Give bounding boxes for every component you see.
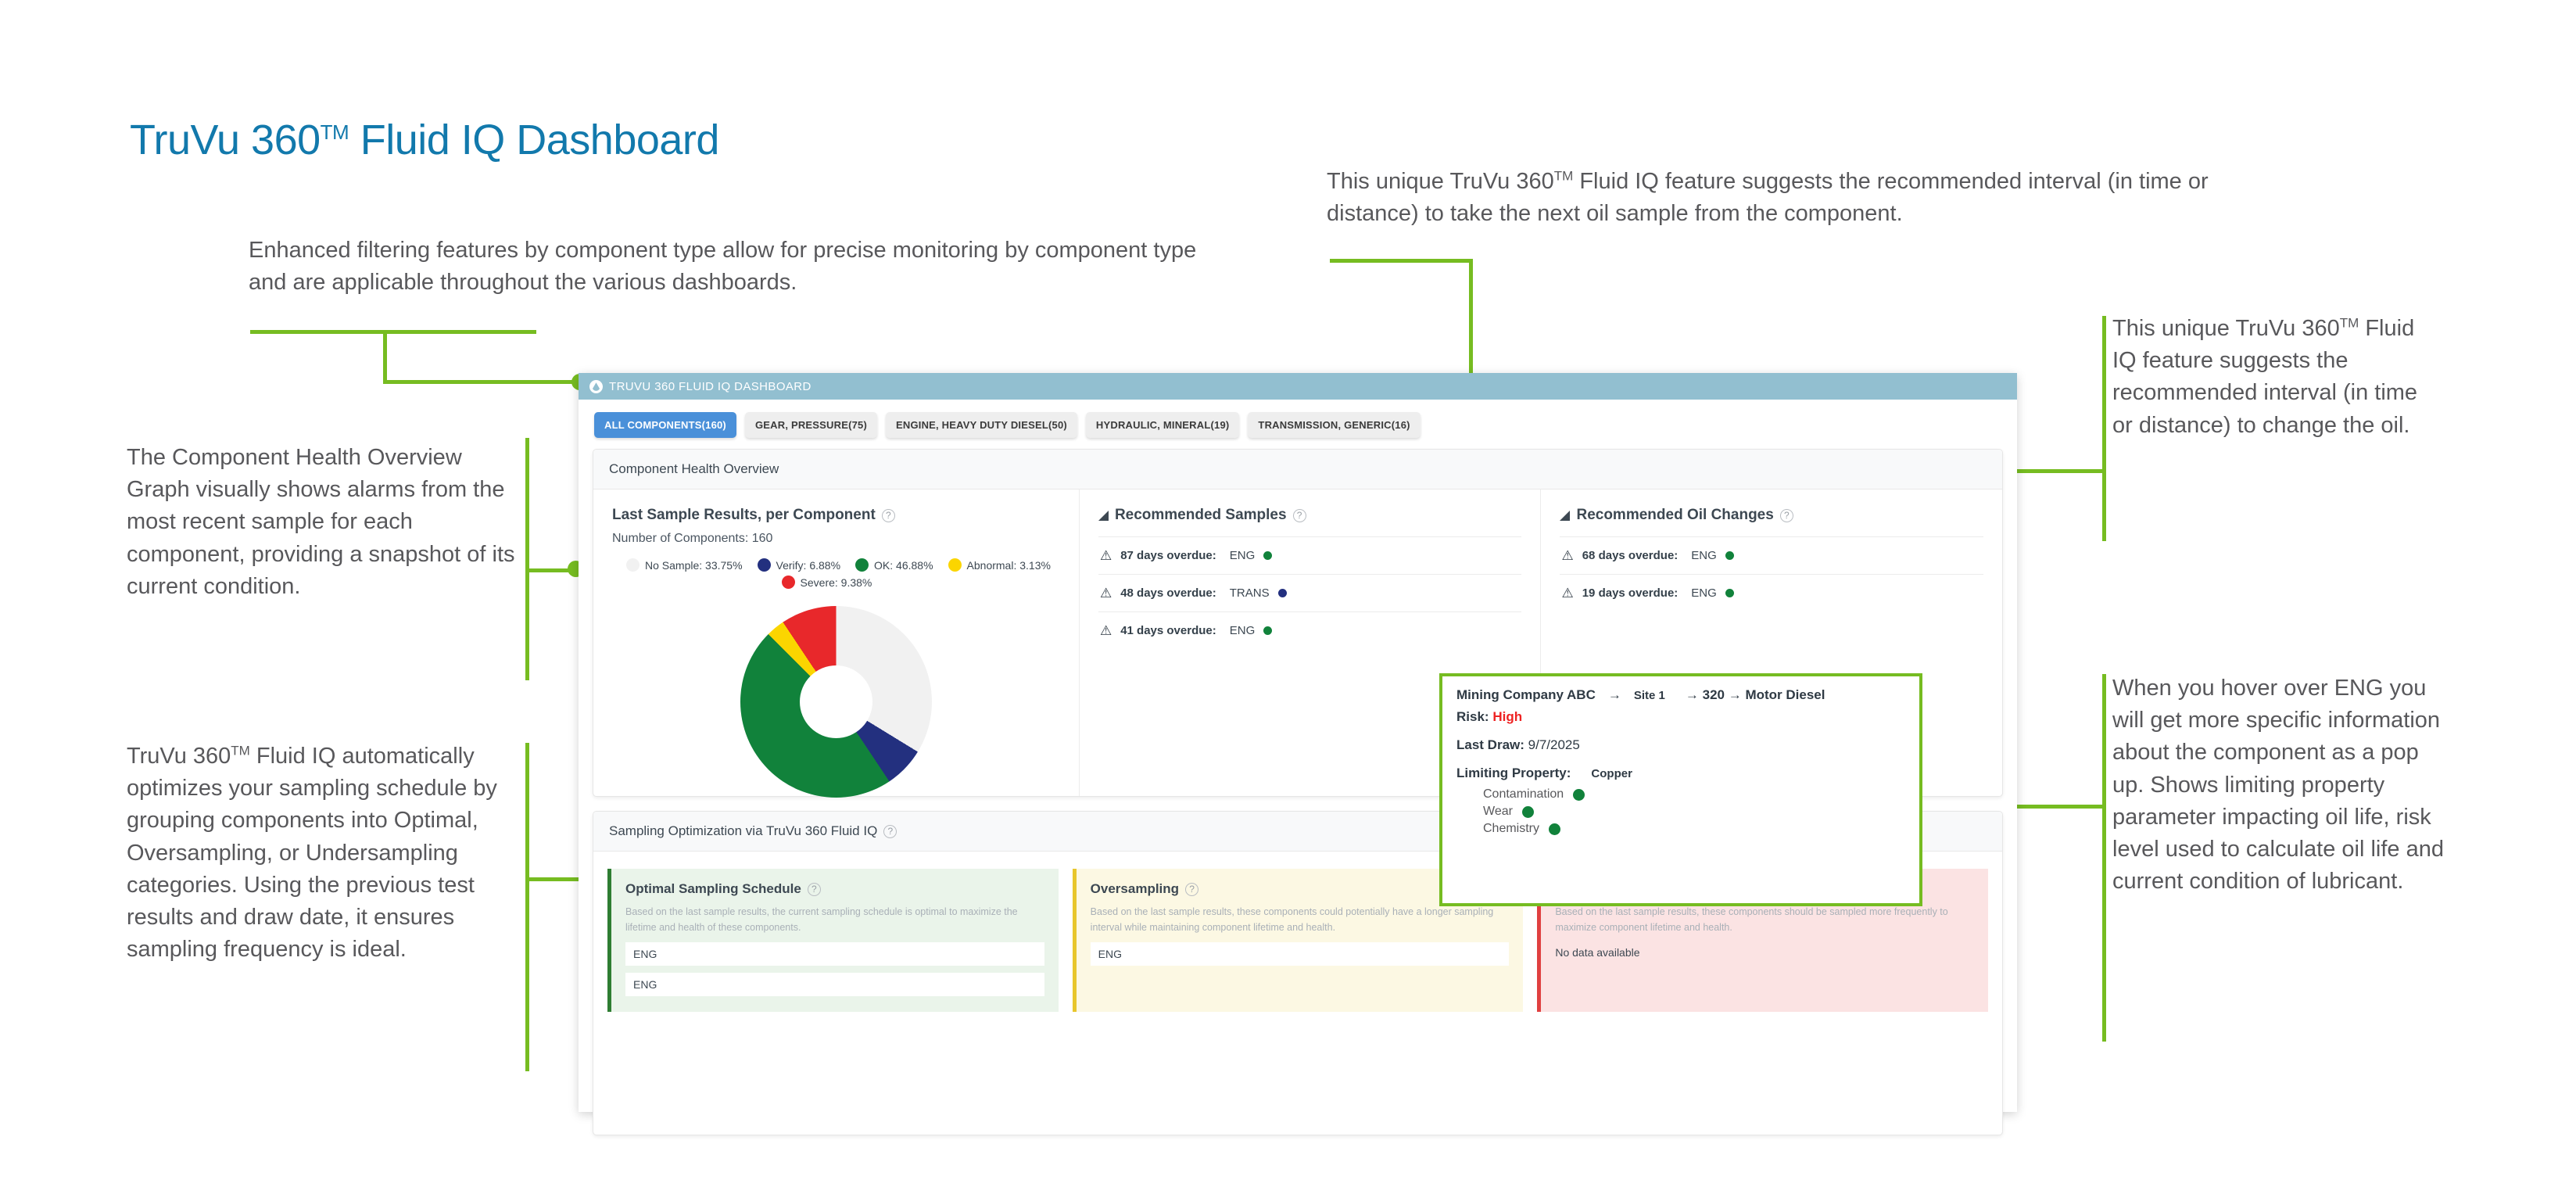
overdue-days: 68 days overdue: <box>1582 549 1679 562</box>
arrow-right-icon: → <box>1608 687 1621 703</box>
annotation-oil-changes: This unique TruVu 360TM Fluid IQ feature… <box>2112 313 2441 442</box>
legend-swatch-verify <box>758 558 771 572</box>
question-circle-icon[interactable]: ? <box>808 883 821 896</box>
component-code[interactable]: ENG <box>1691 549 1717 562</box>
annotation-text: Fluid IQ automatically optimizes your sa… <box>127 744 497 962</box>
tooltip-limiting-label: Limiting Property: <box>1456 766 1571 781</box>
annotation-text: This unique TruVu 360 <box>2112 316 2340 341</box>
status-badge <box>1278 589 1287 597</box>
droplet-logo-icon <box>589 380 603 393</box>
tooltip-property-list: Contamination Wear Chemistry <box>1456 787 1905 836</box>
annotation-filtering: Enhanced filtering features by component… <box>249 235 1226 299</box>
annotation-text: TruVu 360 <box>127 744 231 769</box>
legend-swatch-no-sample <box>626 558 640 572</box>
component-health-donut-chart[interactable] <box>740 606 932 798</box>
list-item[interactable]: ⚠ 19 days overdue: ENG <box>1560 574 1983 611</box>
status-badge <box>1573 789 1585 801</box>
status-badge <box>1549 823 1560 835</box>
tooltip-breadcrumb: Mining Company ABC → Site 1 → 320 → Moto… <box>1456 687 1905 703</box>
question-circle-icon[interactable]: ? <box>1293 509 1306 522</box>
warning-triangle-icon: ⚠ <box>1100 624 1112 637</box>
list-item[interactable]: ENG <box>1091 942 1510 966</box>
overdue-days: 19 days overdue: <box>1582 586 1679 600</box>
card-header-text: Sampling Optimization via TruVu 360 Flui… <box>609 823 877 839</box>
list-item[interactable]: ⚠ 68 days overdue: ENG <box>1560 536 1983 574</box>
tooltip-unit-component: → 320 → Motor Diesel <box>1686 687 1825 703</box>
component-type-filter-tabs: ALL COMPONENTS(160) GEAR, PRESSURE(75) E… <box>579 400 2017 449</box>
recommended-oil-changes-list: ⚠ 68 days overdue: ENG ⚠ 19 days overdue… <box>1560 536 1983 611</box>
optimal-sampling-title: Optimal Sampling Schedule ? <box>625 881 1044 897</box>
page-title: TruVu 360TM Fluid IQ Dashboard <box>130 116 719 164</box>
list-item: Contamination <box>1483 787 1905 801</box>
legend-text-severe: Severe: 9.38% <box>801 576 872 589</box>
donut-chart-legend: No Sample No Sample: 33.75% Verify: 6.88… <box>612 558 1060 589</box>
status-badge <box>1522 806 1534 818</box>
tab-transmission-generic[interactable]: TRANSMISSION, GENERIC(16) <box>1248 412 1420 438</box>
panel-title-text: Recommended Oil Changes <box>1576 507 1773 524</box>
legend-text-verify: Verify: 6.88% <box>776 559 841 572</box>
dashboard-title: TRUVU 360 FLUID IQ DASHBOARD <box>609 380 811 393</box>
leader-line-health-vert <box>525 438 529 680</box>
question-circle-icon[interactable]: ? <box>883 825 897 838</box>
tooltip-company: Mining Company ABC <box>1456 687 1596 703</box>
overdue-days: 48 days overdue: <box>1120 586 1216 600</box>
last-sample-results-panel: Last Sample Results, per Component ? Num… <box>593 490 1079 796</box>
tab-gear-pressure[interactable]: GEAR, PRESSURE(75) <box>745 412 877 438</box>
oversampling-description: Based on the last sample results, these … <box>1091 904 1510 935</box>
tooltip-last-draw-value: 9/7/2025 <box>1528 737 1580 752</box>
question-circle-icon[interactable]: ? <box>1780 509 1793 522</box>
trademark-symbol: TM <box>2340 315 2359 330</box>
status-badge <box>1263 551 1272 560</box>
legend-text-abnormal: Abnormal: 3.13% <box>967 559 1051 572</box>
tooltip-limiting-property: Limiting Property: Copper <box>1456 766 1905 781</box>
trademark-symbol: TM <box>321 120 349 144</box>
overdue-days: 87 days overdue: <box>1120 549 1216 562</box>
recommended-oil-changes-title: Recommended Oil Changes ? <box>1560 507 1983 524</box>
list-item[interactable]: ⚠ 87 days overdue: ENG <box>1098 536 1522 574</box>
tab-all-components[interactable]: ALL COMPONENTS(160) <box>594 412 736 438</box>
warning-triangle-icon: ⚠ <box>1561 549 1573 562</box>
tooltip-limiting-value: Copper <box>1591 767 1632 780</box>
leader-line-samples-top <box>1330 259 1473 263</box>
dashboard-titlebar: TRUVU 360 FLUID IQ DASHBOARD <box>579 373 2017 400</box>
list-item: Wear <box>1483 805 1905 819</box>
question-circle-icon[interactable]: ? <box>1185 883 1198 896</box>
number-of-components: Number of Components: 160 <box>612 532 1060 546</box>
component-hover-tooltip: Mining Company ABC → Site 1 → 320 → Moto… <box>1439 673 1922 906</box>
trademark-symbol: TM <box>231 743 250 758</box>
tab-hydraulic-mineral[interactable]: HYDRAULIC, MINERAL(19) <box>1086 412 1240 438</box>
trademark-symbol: TM <box>1554 168 1574 183</box>
legend-swatch-ok <box>855 558 869 572</box>
recommended-samples-list: ⚠ 87 days overdue: ENG ⚠ 48 days overdue… <box>1098 536 1522 649</box>
status-badge <box>1263 626 1272 635</box>
leader-line-oil-vert-right <box>2102 316 2106 541</box>
component-code[interactable]: ENG <box>1230 624 1256 637</box>
leader-line-samples-vert1 <box>1469 259 1473 386</box>
overdue-days: 41 days overdue: <box>1120 624 1216 637</box>
optimal-sampling-column: Optimal Sampling Schedule ? Based on the… <box>607 869 1059 1012</box>
warning-triangle-icon: ⚠ <box>1100 586 1112 600</box>
legend-swatch-severe <box>782 576 795 589</box>
bar-chart-icon <box>1098 511 1109 521</box>
tooltip-property-label: Wear <box>1483 805 1513 819</box>
annotation-component-health: The Component Health Overview Graph visu… <box>127 442 518 603</box>
leader-line-sampling-vert <box>525 743 529 1071</box>
column-title-text: Oversampling <box>1091 881 1179 897</box>
tooltip-risk: Risk: High <box>1456 709 1905 725</box>
question-circle-icon[interactable]: ? <box>882 509 895 522</box>
optimal-sampling-description: Based on the last sample results, the cu… <box>625 904 1044 935</box>
component-health-overview-header: Component Health Overview <box>593 450 2002 490</box>
annotation-recommended-samples: This unique TruVu 360TM Fluid IQ feature… <box>1327 166 2265 230</box>
list-item: Chemistry <box>1483 822 1905 836</box>
list-item[interactable]: ENG <box>625 942 1044 966</box>
warning-triangle-icon: ⚠ <box>1100 549 1112 562</box>
donut-chart-wrap <box>612 606 1060 798</box>
status-badge <box>1725 551 1734 560</box>
component-code[interactable]: TRANS <box>1230 586 1270 600</box>
annotation-sampling-optimization: TruVu 360TM Fluid IQ automatically optim… <box>127 741 525 966</box>
tooltip-site: Site 1 <box>1634 689 1665 702</box>
component-code[interactable]: ENG <box>1691 586 1717 600</box>
legend-text-ok: OK: 46.88% <box>874 559 933 572</box>
annotation-text: This unique TruVu 360 <box>1327 169 1554 194</box>
column-title-text: Optimal Sampling Schedule <box>625 881 801 897</box>
bar-chart-icon <box>1560 511 1570 521</box>
list-item[interactable]: ⚠ 41 days overdue: ENG <box>1098 611 1522 649</box>
leader-line-filter-vert <box>383 330 387 380</box>
list-item[interactable]: ENG <box>625 973 1044 996</box>
leader-line-health-horiz <box>525 568 574 572</box>
last-sample-results-title: Last Sample Results, per Component ? <box>612 507 1060 524</box>
list-item[interactable]: ⚠ 48 days overdue: TRANS <box>1098 574 1522 611</box>
leader-line-hover-vert <box>2102 674 2106 1042</box>
recommended-samples-title: Recommended Samples ? <box>1098 507 1522 524</box>
component-code[interactable]: ENG <box>1230 549 1256 562</box>
leader-line-filter-top <box>250 330 536 334</box>
tooltip-last-draw-label: Last Draw: <box>1456 737 1524 752</box>
status-badge <box>1725 589 1734 597</box>
legend-swatch-abnormal <box>948 558 962 572</box>
tab-engine-heavy-duty-diesel[interactable]: ENGINE, HEAVY DUTY DIESEL(50) <box>886 412 1077 438</box>
undersampling-description: Based on the last sample results, these … <box>1555 904 1974 935</box>
panel-title-text: Recommended Samples <box>1115 507 1287 524</box>
tooltip-risk-label: Risk: <box>1456 709 1489 724</box>
tooltip-property-label: Chemistry <box>1483 822 1539 836</box>
warning-triangle-icon: ⚠ <box>1561 586 1573 600</box>
tooltip-last-draw: Last Draw: 9/7/2025 <box>1456 737 1905 753</box>
page-title-rest: Fluid IQ Dashboard <box>349 117 719 163</box>
undersampling-empty-state: No data available <box>1555 946 1974 959</box>
page-title-main: TruVu 360 <box>130 117 321 163</box>
tooltip-property-label: Contamination <box>1483 787 1564 801</box>
legend-text-no-sample: No Sample: 33.75% <box>645 559 743 572</box>
tooltip-risk-value: High <box>1492 709 1522 724</box>
annotation-hover-popup: When you hover over ENG you will get mor… <box>2112 672 2456 898</box>
panel-title-text: Last Sample Results, per Component <box>612 507 876 524</box>
leader-line-filter-bottom <box>383 380 579 384</box>
